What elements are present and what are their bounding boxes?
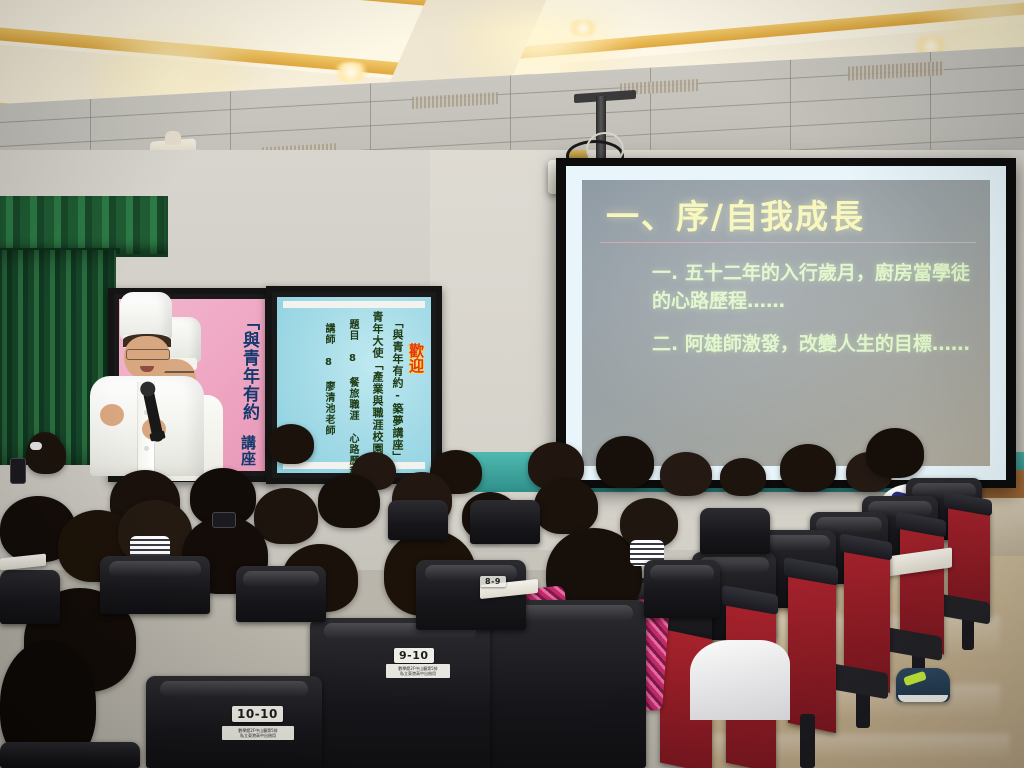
seat-highlight [243, 571, 319, 587]
seat-leg [800, 714, 815, 768]
seat-back[interactable] [236, 566, 326, 622]
poster-pink-headline: 「與青年有約 [239, 313, 257, 421]
hair-tie [30, 442, 42, 450]
seat-back[interactable] [0, 742, 140, 768]
seat-highlight [650, 565, 714, 581]
audience-head [318, 474, 380, 528]
seat-highlight [762, 535, 829, 551]
audience-head [660, 452, 712, 496]
seat-back[interactable] [146, 676, 322, 768]
slide-body: 一. 五十二年的入行歲月，廚房當學徒的心路歷程…… 二. 阿雄師激發，改變人生的… [652, 260, 976, 375]
poster-pink-subline: 講座 [239, 435, 255, 467]
screen-border-glow: 一、序/自我成長 一. 五十二年的入行歲月，廚房當學徒的心路歷程…… 二. 阿雄… [566, 166, 1006, 480]
slide-bullet-1: 一. 五十二年的入行歲月，廚房當學徒的心路歷程…… [652, 260, 976, 315]
seat-number-label: 10-10 [232, 706, 283, 722]
chef-toque-icon [120, 292, 172, 340]
ceiling-downlight [565, 20, 601, 36]
seat-back[interactable] [644, 560, 720, 618]
seat-back[interactable] [388, 500, 448, 540]
ceiling-speaker-stem [165, 131, 181, 145]
ceiling-downlight [330, 62, 372, 82]
poster-blue-line1: 「與青年有約‑築夢講座」 [392, 317, 403, 463]
projection-screen: 一、序/自我成長 一. 五十二年的入行歲月，廚房當學徒的心路歷程…… 二. 阿雄… [582, 180, 990, 466]
sneaker [896, 668, 950, 702]
seat-back[interactable] [100, 556, 210, 614]
smartphone[interactable] [10, 458, 26, 484]
presenter-left-hand [100, 404, 124, 426]
audience-head [780, 444, 836, 492]
audience-shoulders [690, 640, 790, 720]
slide-heading: 一、序/自我成長 [606, 190, 974, 238]
poster-blue-line3: 題目 8 餐旅職涯 心路歷程 [347, 319, 357, 477]
glasses-icon [126, 349, 170, 360]
slide-bullet-2: 二. 阿雄師激發，改變人生的目標…… [652, 331, 976, 359]
ceiling-vent [412, 92, 498, 109]
poster-top-strip [283, 301, 425, 308]
seat-info-plate: 數學館2F中山廳第5排 私立東港高中出借用 [222, 726, 294, 740]
audience-head [534, 478, 598, 534]
presenter-chef [86, 292, 210, 476]
seat-info-plate: 數學館2F中山廳第5排 私立東港高中出借用 [386, 664, 450, 678]
seat-highlight [160, 681, 308, 697]
poster-blue-line4: 講師 8 廖清池老師 [323, 323, 333, 436]
seat-side-panel [788, 567, 836, 733]
seat-back[interactable] [0, 570, 60, 624]
seat-back[interactable] [470, 500, 540, 544]
seat-back[interactable] [310, 618, 490, 768]
audience-head [268, 424, 314, 464]
poster-welcome-text: 歡迎 [408, 343, 423, 373]
jacket-button [144, 446, 149, 451]
seat-number-label: 8-9 [480, 576, 506, 587]
seat-number-label: 9-10 [394, 648, 434, 663]
audience-head [254, 488, 318, 544]
seat-highlight [109, 561, 201, 577]
slide-divider-rule [600, 242, 976, 243]
audience-head [596, 436, 654, 488]
lecture-hall-photo: 「與青年有約 講座 歡迎 「與青年有約‑築夢講座」 青年大使「產業與職涯校園巡迴… [0, 0, 1024, 768]
audience-head [720, 458, 766, 496]
seat-back[interactable] [700, 508, 770, 554]
audience-head [866, 428, 924, 478]
smartphone[interactable] [212, 512, 236, 528]
